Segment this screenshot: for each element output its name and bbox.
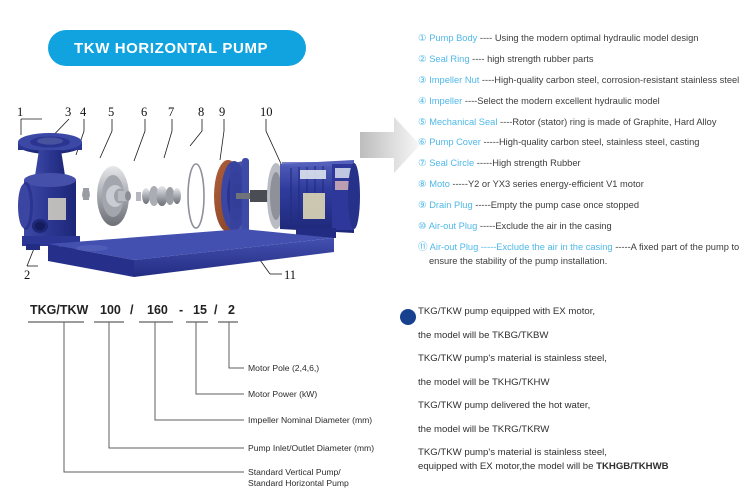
page-root: TKW HORIZONTAL PUMP: [0, 0, 756, 500]
feature-name: Air-out Plug -----Exclude the air in the…: [430, 242, 613, 252]
feature-name: Seal Circle: [429, 158, 474, 168]
variant-notes: TKG/TKW pump equipped with EX motor, the…: [418, 306, 754, 485]
callout-2: 2: [24, 268, 30, 282]
motor-part: [267, 160, 360, 238]
feature-desc: -----Exclude the air in the casing: [480, 221, 612, 231]
impeller-nut-part: [82, 188, 90, 200]
model-impeller: 160: [147, 303, 168, 317]
callout-5: 5: [108, 105, 114, 119]
feature-number: ②: [418, 54, 427, 65]
callout-3: 3: [65, 105, 71, 119]
feature-name: Seal Ring: [429, 54, 469, 64]
feature-item: ⑩ Air-out Plug -----Exclude the air in t…: [418, 220, 752, 234]
feature-item: ⑨ Drain Plug -----Empty the pump case on…: [418, 199, 752, 213]
mechanical-seal-part: [136, 186, 181, 206]
model-slash-1: /: [130, 303, 134, 317]
feature-number: ④: [418, 96, 427, 107]
feature-number: ⑩: [418, 221, 427, 232]
variant-line: TKG/TKW pump's material is stainless ste…: [418, 353, 754, 364]
feature-name: Air-out Plug: [429, 221, 478, 231]
page-title-banner: TKW HORIZONTAL PUMP: [48, 30, 306, 66]
variant-line: the model will be TKBG/TKBW: [418, 330, 754, 341]
feature-item: ① Pump Body ---- Using the modern optima…: [418, 32, 752, 46]
pump-body-part: [18, 133, 82, 250]
variant-last-model: TKHGB/TKHWB: [596, 461, 668, 472]
exploded-pump-figure: 1 2 3 4 5 6 7 8 9 10 11: [14, 98, 374, 288]
feature-number: ⑥: [418, 137, 427, 148]
variant-last-prefix: equipped with EX motor,the model will be: [418, 461, 596, 472]
model-power: 15: [193, 303, 207, 317]
model-label-inlet: Pump Inlet/Outlet Diameter (mm): [248, 443, 374, 453]
feature-desc: -----High-quality carbon steel, stainles…: [483, 137, 699, 147]
feature-name: Mechanical Seal: [429, 117, 497, 127]
feature-number: ①: [418, 33, 427, 44]
seal-circle-part: [188, 164, 204, 228]
right-arrow-icon: [358, 112, 422, 178]
callout-6: 6: [141, 105, 147, 119]
feature-item: ② Seal Ring ---- high strength rubber pa…: [418, 53, 752, 67]
variant-line: the model will be TKRG/TKRW: [418, 424, 754, 435]
impeller-part: [97, 166, 131, 226]
model-label-pole: Motor Pole (2,4,6,): [248, 363, 319, 373]
callout-8: 8: [198, 105, 204, 119]
feature-desc: ---- Using the modern optimal hydraulic …: [480, 33, 699, 43]
feature-desc-continued: ensure the stability of the pump install…: [418, 255, 752, 268]
feature-name: Impeller: [429, 96, 462, 106]
model-inlet: 100: [100, 303, 121, 317]
variant-line: TKG/TKW pump delivered the hot water,: [418, 400, 754, 411]
model-slash-2: /: [214, 303, 218, 317]
feature-name: Pump Cover: [429, 137, 481, 147]
callout-1: 1: [17, 105, 23, 119]
feature-desc: -----Y2 or YX3 series energy-efficient V…: [452, 179, 643, 189]
feature-desc: ----Rotor (stator) ring is made of Graph…: [500, 117, 716, 127]
model-leader-lines: [64, 322, 244, 472]
feature-number: ⑨: [418, 200, 427, 211]
variant-line: TKG/TKW pump equipped with EX motor,: [418, 306, 754, 317]
feature-desc: -----Empty the pump case once stopped: [475, 200, 639, 210]
callout-9: 9: [219, 105, 225, 119]
feature-number: ⑧: [418, 179, 427, 190]
feature-name: Moto: [429, 179, 450, 189]
feature-number: ③: [418, 75, 427, 86]
feature-desc: ---- high strength rubber parts: [472, 54, 593, 64]
callout-7: 7: [168, 105, 174, 119]
model-label-type-line2: Standard Horizontal Pump: [248, 478, 349, 488]
feature-item: ⑥ Pump Cover -----High-quality carbon st…: [418, 136, 752, 150]
feature-number: ⑤: [418, 117, 427, 128]
feature-number: ⑪: [418, 242, 428, 253]
model-dash: -: [179, 303, 183, 317]
page-title: TKW HORIZONTAL PUMP: [48, 40, 268, 57]
feature-name: Pump Body: [429, 33, 477, 43]
feature-item: ⑧ Moto -----Y2 or YX3 series energy-effi…: [418, 178, 752, 192]
bullet-dot-icon: [400, 309, 416, 325]
feature-number: ⑦: [418, 158, 427, 169]
variant-line: the model will be TKHG/TKHW: [418, 377, 754, 388]
model-pole: 2: [228, 303, 235, 317]
model-designation-diagram: TKG/TKW 100 / 160 - 15 / 2: [16, 300, 388, 490]
feature-item: ⑤ Mechanical Seal ----Rotor (stator) rin…: [418, 116, 752, 130]
feature-item: ④ Impeller ----Select the modern excelle…: [418, 95, 752, 109]
callout-10: 10: [260, 105, 273, 119]
feature-name: Impeller Nut: [429, 75, 479, 85]
feature-desc: ----High-quality carbon steel, corrosion…: [482, 75, 739, 85]
feature-item: ⑪ Air-out Plug -----Exclude the air in t…: [418, 241, 752, 268]
feature-item: ⑦ Seal Circle -----High strength Rubber: [418, 157, 752, 171]
feature-item: ③ Impeller Nut ----High-quality carbon s…: [418, 74, 752, 88]
feature-list: ① Pump Body ---- Using the modern optima…: [418, 32, 752, 275]
variant-line: TKG/TKW pump's material is stainless ste…: [418, 447, 754, 458]
model-label-impeller: Impeller Nominal Diameter (mm): [248, 415, 372, 425]
feature-desc: -----A fixed part of the pump to: [615, 242, 739, 252]
model-series: TKG/TKW: [30, 303, 89, 317]
variant-line-last: equipped with EX motor,the model will be…: [418, 461, 754, 472]
callout-4: 4: [80, 105, 87, 119]
model-label-type-line1: Standard Vertical Pump/: [248, 467, 341, 477]
feature-desc: -----High strength Rubber: [477, 158, 581, 168]
feature-desc: ----Select the modern excellent hydrauli…: [465, 96, 660, 106]
model-label-power: Motor Power (kW): [248, 389, 317, 399]
callout-11: 11: [284, 268, 296, 282]
feature-name: Drain Plug: [429, 200, 472, 210]
